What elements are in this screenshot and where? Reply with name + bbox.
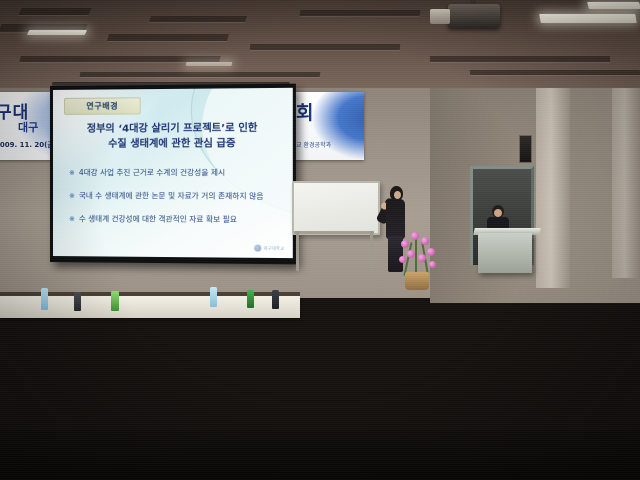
right-wall [430, 88, 640, 303]
bullet-marker-icon: ※ [69, 168, 75, 178]
projection-screen: 연구배경 정부의 ‘4대강 살리기 프로젝트’로 인한 수질 생태계에 관한 관… [50, 84, 296, 265]
slide-logo-text: 대구대학교 [264, 245, 285, 251]
ceiling-tile [470, 70, 640, 75]
slide-section-tab-label: 연구배경 [86, 100, 118, 111]
slide-title: 정부의 ‘4대강 살리기 프로젝트’로 인한 수질 생태계에 관한 관심 급증 [63, 121, 282, 152]
ceiling-light [186, 62, 233, 66]
orchid-bloom [401, 240, 409, 248]
plant-stem [415, 234, 417, 276]
orchid-bloom [411, 232, 419, 240]
orchid-bloom [407, 250, 415, 258]
orchid-bloom [429, 261, 436, 268]
ceiling-tile [149, 16, 247, 22]
ceiling [0, 0, 640, 92]
orchid-plant [393, 228, 441, 290]
ceiling-light [539, 14, 637, 23]
slide-section-tab: 연구배경 [64, 97, 141, 115]
slide-title-line2: 수질 생태계에 관한 관심 급증 [63, 136, 282, 152]
slide-title-line1: 정부의 ‘4대강 살리기 프로젝트’로 인한 [63, 121, 282, 137]
ceiling-tile [250, 44, 401, 50]
pillar [536, 88, 570, 288]
slide-bullet: ※ 4대강 사업 추진 근거로 수계의 건강성을 제시 [69, 168, 280, 178]
ceiling-tile [300, 10, 421, 16]
slide-bullet: ※ 국내 수 생태계에 관한 논문 및 자료가 거의 존재하지 않음 [69, 191, 280, 202]
plant-pot [405, 272, 429, 290]
banner-left-date: 2009. 11. 20(금) [0, 140, 57, 150]
presentation-slide: 연구배경 정부의 ‘4대강 살리기 프로젝트’로 인한 수질 생태계에 관한 관… [53, 88, 293, 258]
whiteboard-leg [370, 231, 373, 271]
ceiling-tile [18, 8, 91, 15]
slide-bullet-list: ※ 4대강 사업 추진 근거로 수계의 건강성을 제시 ※ 국내 수 생태계에 … [69, 168, 280, 239]
lecture-hall-photo: 구대 대구 2009. 11. 20(금) 발표회 표회 대구대학교 환경공학과… [0, 0, 640, 480]
orchid-bloom [399, 256, 406, 263]
bullet-marker-icon: ※ [69, 191, 75, 201]
university-logo-icon [254, 245, 261, 252]
ceiling-tile [430, 56, 610, 62]
whiteboard-leg [296, 231, 299, 271]
slide-bullet-text: 수 생태계 건강성에 대한 객관적인 자료 확보 필요 [79, 214, 237, 225]
audience-seating [0, 300, 640, 480]
slide-bullet-text: 국내 수 생태계에 관한 논문 및 자료가 거의 존재하지 않음 [79, 191, 264, 202]
whiteboard-tray [294, 231, 374, 234]
slide-bullet-text: 4대강 사업 추진 근거로 수계의 건강성을 제시 [79, 168, 225, 178]
orchid-bloom [418, 254, 426, 262]
ceiling-projector-icon [448, 4, 500, 28]
orchid-bloom [421, 237, 429, 245]
presenter-face [394, 191, 401, 199]
ceiling-tile [107, 34, 229, 41]
ceiling-light [27, 30, 87, 35]
bullet-marker-icon: ※ [69, 214, 75, 224]
banner-left-line2: 대구 [18, 119, 38, 135]
slide-bullet: ※ 수 생태계 건강성에 대한 객관적인 자료 확보 필요 [69, 214, 280, 225]
podium-person-face [494, 209, 502, 217]
podium [478, 233, 532, 273]
wall-speaker-icon [519, 135, 532, 163]
slide-logo: 대구대학교 [254, 245, 284, 252]
whiteboard [292, 181, 380, 235]
ceiling-tile [80, 72, 321, 77]
pillar [612, 88, 640, 278]
ceiling-light [587, 2, 640, 9]
orchid-bloom [427, 248, 435, 256]
